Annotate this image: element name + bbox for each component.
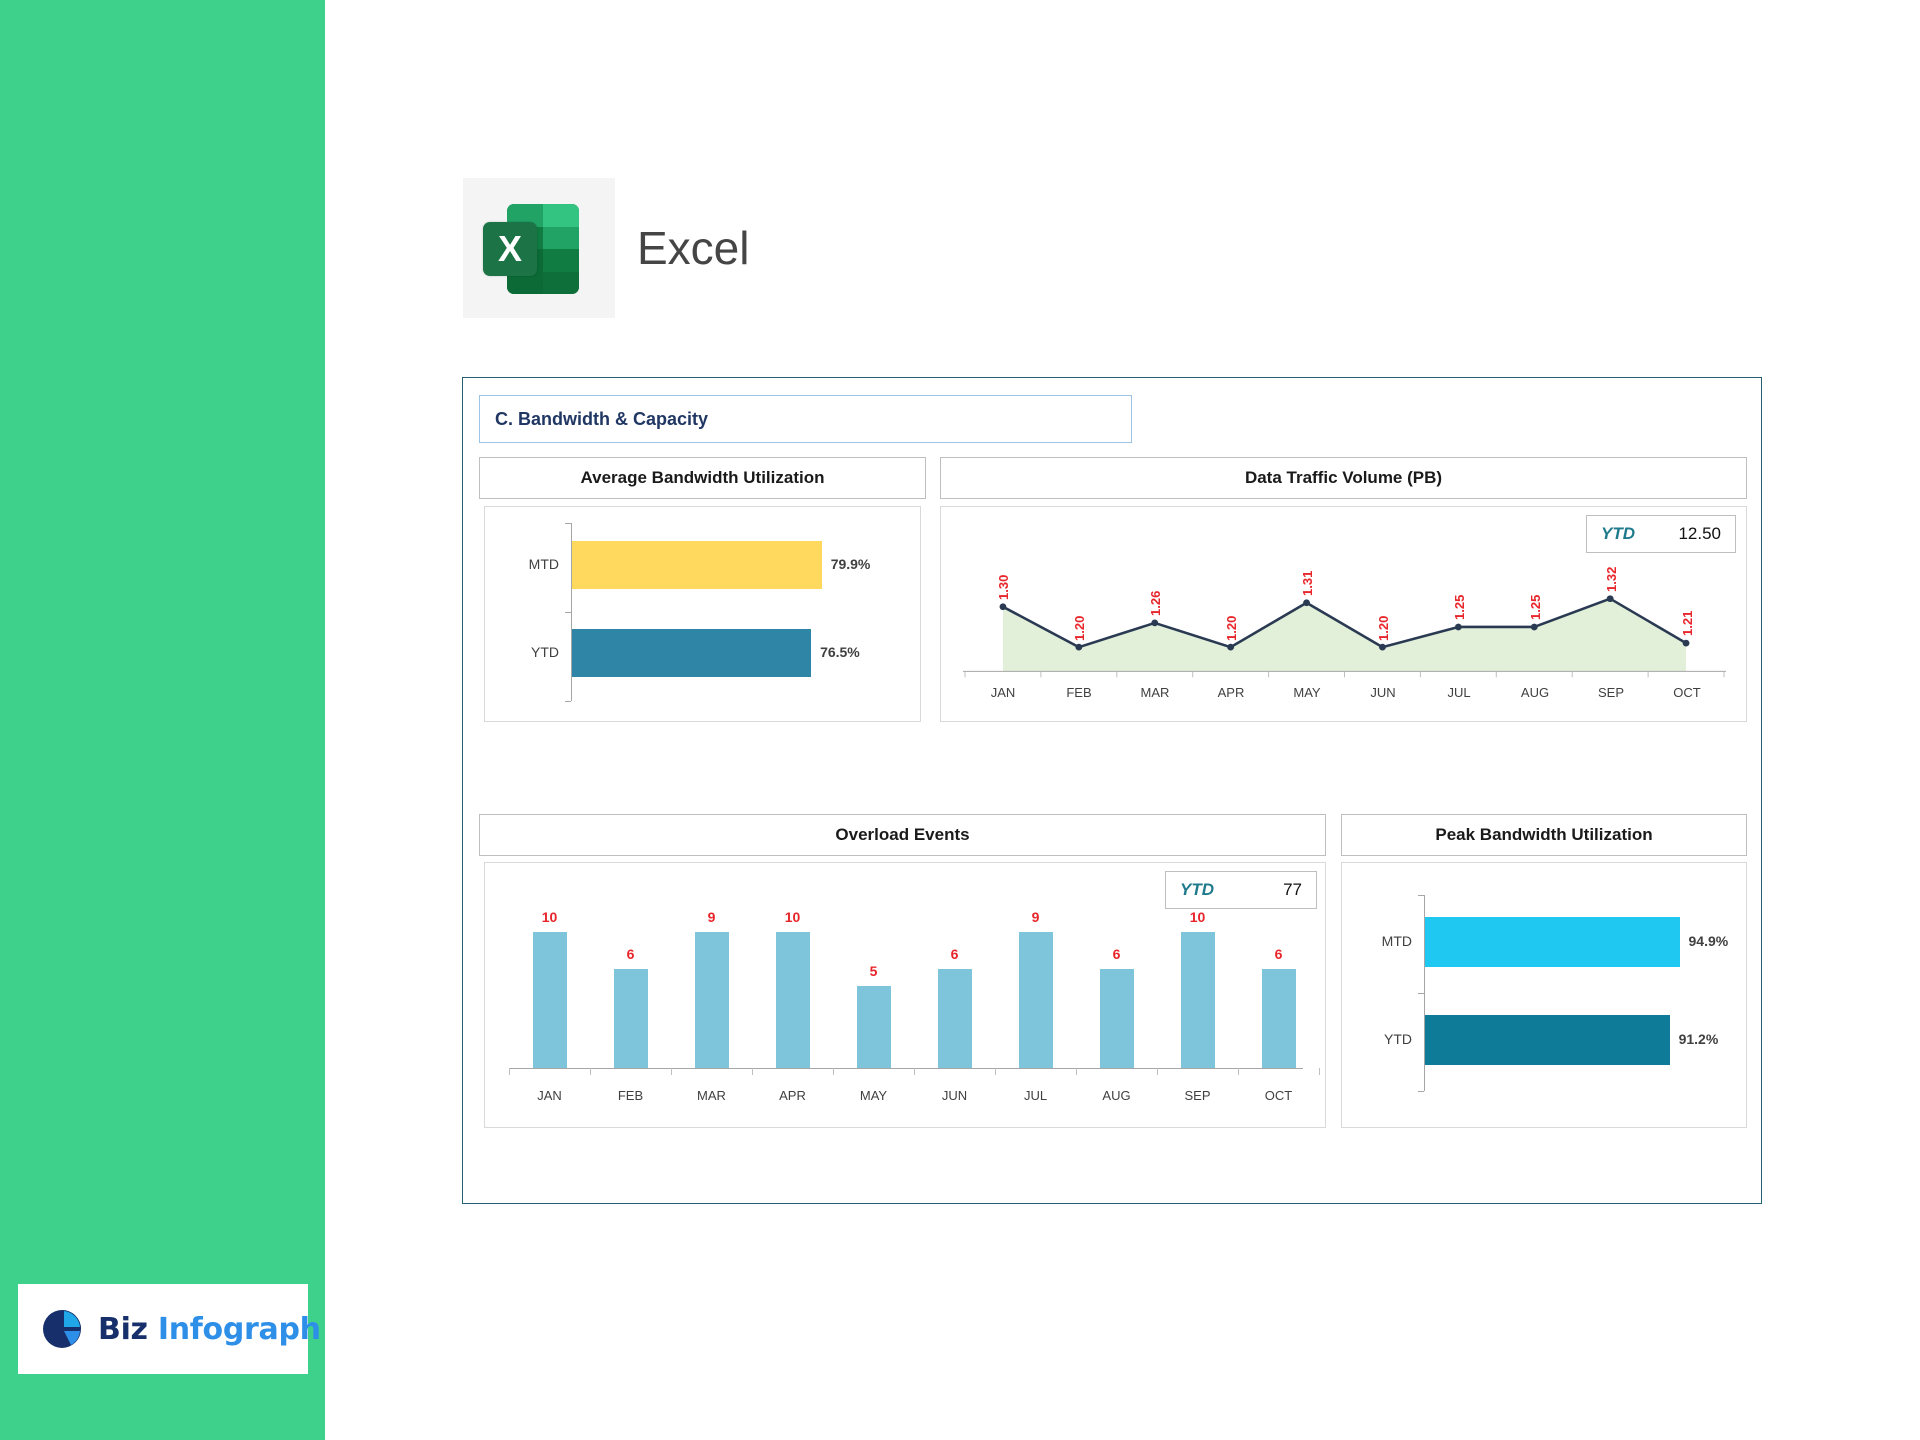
category-label-jan: JAN <box>537 1088 562 1103</box>
category-label-feb: FEB <box>1041 685 1117 700</box>
value-label-mar: 1.26 <box>1148 576 1163 616</box>
bar-oct <box>1262 969 1296 1069</box>
value-label-jul: 1.25 <box>1452 580 1467 620</box>
bar-sep <box>1181 932 1215 1069</box>
category-label-aug: AUG <box>1102 1088 1130 1103</box>
category-label-may: MAY <box>1269 685 1345 700</box>
data-point-apr <box>1227 644 1234 651</box>
bar-jul <box>1019 932 1053 1069</box>
value-label-mar: 9 <box>708 909 716 925</box>
bar-jun <box>938 969 972 1069</box>
brand-name-biz: Biz <box>98 1312 148 1347</box>
value-label-jun: 6 <box>951 946 959 962</box>
column-group-jan: 10JAN <box>509 909 590 1069</box>
data-point-may <box>1303 599 1310 606</box>
value-label-ytd: 91.2% <box>1679 1031 1719 1047</box>
axis-tick <box>752 1068 753 1075</box>
axis-tick <box>509 1068 510 1075</box>
axis-tick <box>1157 1068 1158 1075</box>
pie-chart-icon <box>40 1307 84 1351</box>
brand-logo-card: Biz Infograph <box>18 1284 308 1374</box>
column-group-sep: 10SEP <box>1157 909 1238 1069</box>
column-group-apr: 10APR <box>752 909 833 1069</box>
ytd-value: 12.50 <box>1678 524 1721 544</box>
category-label-jul: JUL <box>1024 1088 1047 1103</box>
section-title: C. Bandwidth & Capacity <box>479 395 1132 443</box>
bar-ytd <box>572 629 811 677</box>
bar-may <box>857 986 891 1069</box>
value-label-oct: 1.21 <box>1680 596 1695 636</box>
value-label-feb: 1.20 <box>1072 601 1087 641</box>
chart-average-bandwidth: MTD79.9%YTD76.5% <box>484 506 921 722</box>
app-name-label: Excel <box>637 221 749 275</box>
bar-mar <box>695 932 729 1069</box>
axis-tick <box>565 523 571 524</box>
chart-overload-events: YTD 77 10JAN6FEB9MAR10APR5MAY6JUN9JUL6AU… <box>484 862 1326 1128</box>
value-label-may: 1.31 <box>1300 556 1315 596</box>
panel-title-peak-bandwidth: Peak Bandwidth Utilization <box>1341 814 1747 856</box>
bar-jan <box>533 932 567 1069</box>
axis-tick <box>995 1068 996 1075</box>
value-label-jan: 1.30 <box>996 560 1011 600</box>
ytd-label: YTD <box>1180 880 1214 900</box>
bar-ytd <box>1425 1015 1670 1065</box>
value-label-mtd: 94.9% <box>1689 933 1729 949</box>
panel-title-overload-events: Overload Events <box>479 814 1326 856</box>
data-point-sep <box>1607 595 1614 602</box>
category-label-oct: OCT <box>1649 685 1725 700</box>
value-label-aug: 6 <box>1113 946 1121 962</box>
category-label-ytd: YTD <box>1342 1031 1412 1047</box>
dashboard-frame: C. Bandwidth & Capacity Average Bandwidt… <box>462 377 1762 1204</box>
category-label-apr: APR <box>1193 685 1269 700</box>
axis-tick <box>565 612 571 613</box>
value-label-apr: 1.20 <box>1224 601 1239 641</box>
value-label-aug: 1.25 <box>1528 580 1543 620</box>
value-label-feb: 6 <box>627 946 635 962</box>
value-label-oct: 6 <box>1275 946 1283 962</box>
left-green-panel <box>0 0 325 1440</box>
axis-tick <box>565 701 571 702</box>
category-label-may: MAY <box>860 1088 887 1103</box>
axis-tick <box>1319 1068 1320 1075</box>
bar-aug <box>1100 969 1134 1069</box>
data-point-oct <box>1683 640 1690 647</box>
category-label-oct: OCT <box>1265 1088 1292 1103</box>
category-label-mtd: MTD <box>1342 933 1412 949</box>
value-label-apr: 10 <box>785 909 801 925</box>
axis-tick <box>1418 1091 1424 1092</box>
category-label-mar: MAR <box>697 1088 726 1103</box>
column-group-may: 5MAY <box>833 909 914 1069</box>
value-label-jul: 9 <box>1032 909 1040 925</box>
axis-tick <box>914 1068 915 1075</box>
axis-tick <box>1076 1068 1077 1075</box>
column-group-mar: 9MAR <box>671 909 752 1069</box>
category-label-jun: JUN <box>942 1088 967 1103</box>
excel-logo-icon: X <box>463 178 615 318</box>
category-label-mar: MAR <box>1117 685 1193 700</box>
data-point-jan <box>1000 603 1007 610</box>
data-point-jun <box>1379 644 1386 651</box>
value-label-jun: 1.20 <box>1376 601 1391 641</box>
value-label-sep: 10 <box>1190 909 1206 925</box>
ytd-label: YTD <box>1601 524 1635 544</box>
category-label-apr: APR <box>779 1088 806 1103</box>
ytd-badge-data-traffic: YTD 12.50 <box>1586 515 1736 553</box>
category-label-jun: JUN <box>1345 685 1421 700</box>
axis-tick <box>1418 993 1424 994</box>
column-group-jul: 9JUL <box>995 909 1076 1069</box>
value-label-mtd: 79.9% <box>831 556 871 572</box>
category-label-mtd: MTD <box>485 556 559 572</box>
column-group-jun: 6JUN <box>914 909 995 1069</box>
column-group-feb: 6FEB <box>590 909 671 1069</box>
category-label-jul: JUL <box>1421 685 1497 700</box>
category-label-sep: SEP <box>1184 1088 1210 1103</box>
data-point-mar <box>1151 620 1158 627</box>
bar-feb <box>614 969 648 1069</box>
brand-wordmark: Biz Infograph <box>98 1312 321 1347</box>
axis-tick <box>671 1068 672 1075</box>
category-label-aug: AUG <box>1497 685 1573 700</box>
axis-tick <box>833 1068 834 1075</box>
axis-tick <box>1418 895 1424 896</box>
column-group-aug: 6AUG <box>1076 909 1157 1069</box>
ytd-value: 77 <box>1283 880 1302 900</box>
category-label-jan: JAN <box>965 685 1041 700</box>
data-point-feb <box>1075 644 1082 651</box>
axis-tick <box>1238 1068 1239 1075</box>
value-label-ytd: 76.5% <box>820 644 860 660</box>
page-root: Biz Infograph X Excel C. Bandwidth & Cap… <box>0 0 1920 1440</box>
column-group-oct: 6OCT <box>1238 909 1319 1069</box>
data-point-aug <box>1531 624 1538 631</box>
bar-apr <box>776 932 810 1069</box>
category-label-sep: SEP <box>1573 685 1649 700</box>
value-label-jan: 10 <box>542 909 558 925</box>
data-point-jul <box>1455 624 1462 631</box>
axis-tick <box>590 1068 591 1075</box>
value-label-may: 5 <box>870 963 878 979</box>
bar-mtd <box>1425 917 1680 967</box>
panel-title-data-traffic: Data Traffic Volume (PB) <box>940 457 1747 499</box>
chart-peak-bandwidth: MTD94.9%YTD91.2% <box>1341 862 1747 1128</box>
ytd-badge-overload-events: YTD 77 <box>1165 871 1317 909</box>
panel-title-average-bandwidth: Average Bandwidth Utilization <box>479 457 926 499</box>
app-heading: X Excel <box>463 178 749 318</box>
bar-mtd <box>572 541 822 589</box>
category-label-ytd: YTD <box>485 644 559 660</box>
category-label-feb: FEB <box>618 1088 643 1103</box>
chart-data-traffic: YTD 12.50 1.30JAN1.20FEB1.26MAR1.20APR1.… <box>940 506 1747 722</box>
excel-letter-tile: X <box>483 222 537 276</box>
brand-name-infograph: Infograph <box>158 1312 321 1347</box>
value-label-sep: 1.32 <box>1604 552 1619 592</box>
